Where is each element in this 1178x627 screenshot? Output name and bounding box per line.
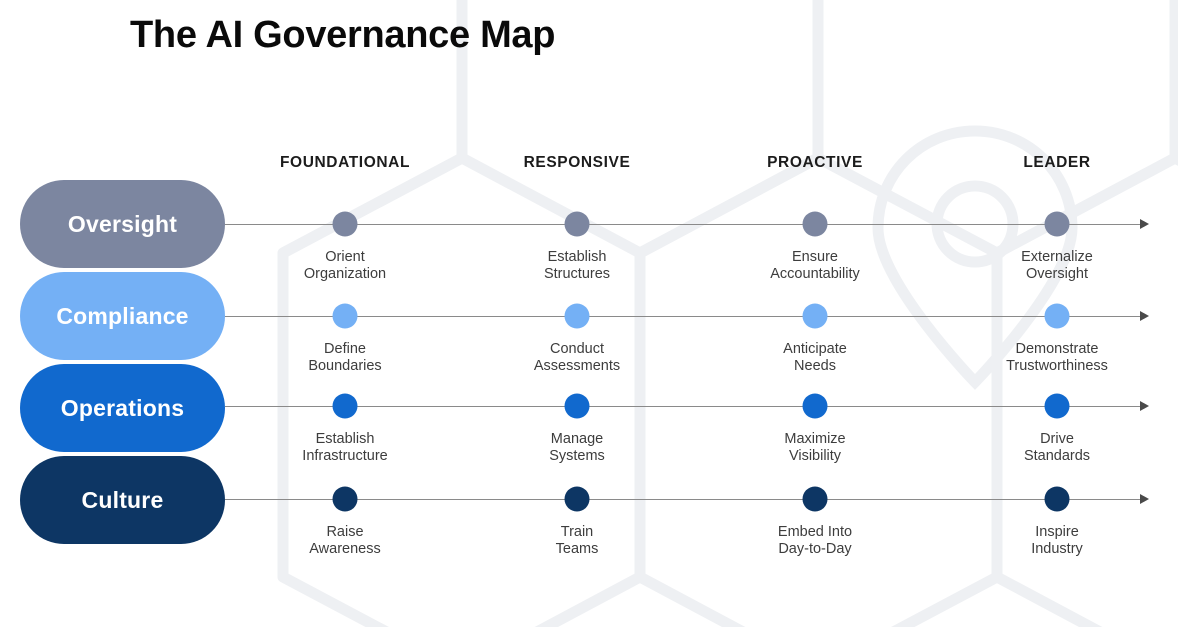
milestone-dot-culture-responsive[interactable] <box>565 487 590 512</box>
milestone-label-operations-responsive: Manage Systems <box>549 431 605 464</box>
milestone-label-oversight-proactive: Ensure Accountability <box>770 249 859 282</box>
milestone-dot-oversight-responsive[interactable] <box>565 212 590 237</box>
row-pill-label-operations: Operations <box>61 395 184 422</box>
milestone-dot-compliance-proactive[interactable] <box>803 304 828 329</box>
row-pill-compliance[interactable]: Compliance <box>20 272 225 360</box>
row-axis-compliance <box>225 316 1140 317</box>
row-pill-label-compliance: Compliance <box>56 303 188 330</box>
row-pill-oversight[interactable]: Oversight <box>20 180 225 268</box>
milestone-dot-operations-leader[interactable] <box>1045 394 1070 419</box>
stage-header-responsive: RESPONSIVE <box>524 154 631 172</box>
row-pill-label-culture: Culture <box>82 487 164 514</box>
milestone-dot-culture-proactive[interactable] <box>803 487 828 512</box>
milestone-label-culture-proactive: Embed Into Day-to-Day <box>778 524 852 557</box>
milestone-dot-culture-leader[interactable] <box>1045 487 1070 512</box>
milestone-label-compliance-foundational: Define Boundaries <box>308 341 381 374</box>
milestone-label-operations-proactive: Maximize Visibility <box>784 431 845 464</box>
row-arrow-operations <box>1140 401 1149 411</box>
milestone-dot-oversight-proactive[interactable] <box>803 212 828 237</box>
milestone-label-culture-responsive: Train Teams <box>556 524 599 557</box>
milestone-dot-compliance-leader[interactable] <box>1045 304 1070 329</box>
governance-map-canvas: The AI Governance Map FOUNDATIONAL RESPO… <box>0 0 1178 627</box>
row-arrow-culture <box>1140 494 1149 504</box>
milestone-dot-oversight-foundational[interactable] <box>333 212 358 237</box>
stage-header-proactive: PROACTIVE <box>767 154 863 172</box>
row-arrow-compliance <box>1140 311 1149 321</box>
milestone-dot-operations-responsive[interactable] <box>565 394 590 419</box>
milestone-dot-oversight-leader[interactable] <box>1045 212 1070 237</box>
milestone-dot-culture-foundational[interactable] <box>333 487 358 512</box>
milestone-dot-compliance-responsive[interactable] <box>565 304 590 329</box>
row-axis-operations <box>225 406 1140 407</box>
milestone-label-operations-leader: Drive Standards <box>1024 431 1090 464</box>
milestone-label-compliance-proactive: Anticipate Needs <box>783 341 847 374</box>
row-pill-operations[interactable]: Operations <box>20 364 225 452</box>
milestone-dot-compliance-foundational[interactable] <box>333 304 358 329</box>
row-arrow-oversight <box>1140 219 1149 229</box>
milestone-dot-operations-proactive[interactable] <box>803 394 828 419</box>
milestone-label-culture-leader: Inspire Industry <box>1031 524 1083 557</box>
stage-header-foundational: FOUNDATIONAL <box>280 154 410 172</box>
milestone-label-operations-foundational: Establish Infrastructure <box>302 431 387 464</box>
stage-header-leader: LEADER <box>1023 154 1090 172</box>
milestone-label-compliance-leader: Demonstrate Trustworthiness <box>1006 341 1108 374</box>
milestone-label-compliance-responsive: Conduct Assessments <box>534 341 620 374</box>
milestone-label-oversight-responsive: Establish Structures <box>544 249 610 282</box>
milestone-label-oversight-foundational: Orient Organization <box>304 249 386 282</box>
row-axis-culture <box>225 499 1140 500</box>
milestone-label-culture-foundational: Raise Awareness <box>309 524 380 557</box>
row-pill-culture[interactable]: Culture <box>20 456 225 544</box>
milestone-label-oversight-leader: Externalize Oversight <box>1021 249 1093 282</box>
row-axis-oversight <box>225 224 1140 225</box>
page-title: The AI Governance Map <box>130 14 555 57</box>
row-pill-label-oversight: Oversight <box>68 211 177 238</box>
milestone-dot-operations-foundational[interactable] <box>333 394 358 419</box>
